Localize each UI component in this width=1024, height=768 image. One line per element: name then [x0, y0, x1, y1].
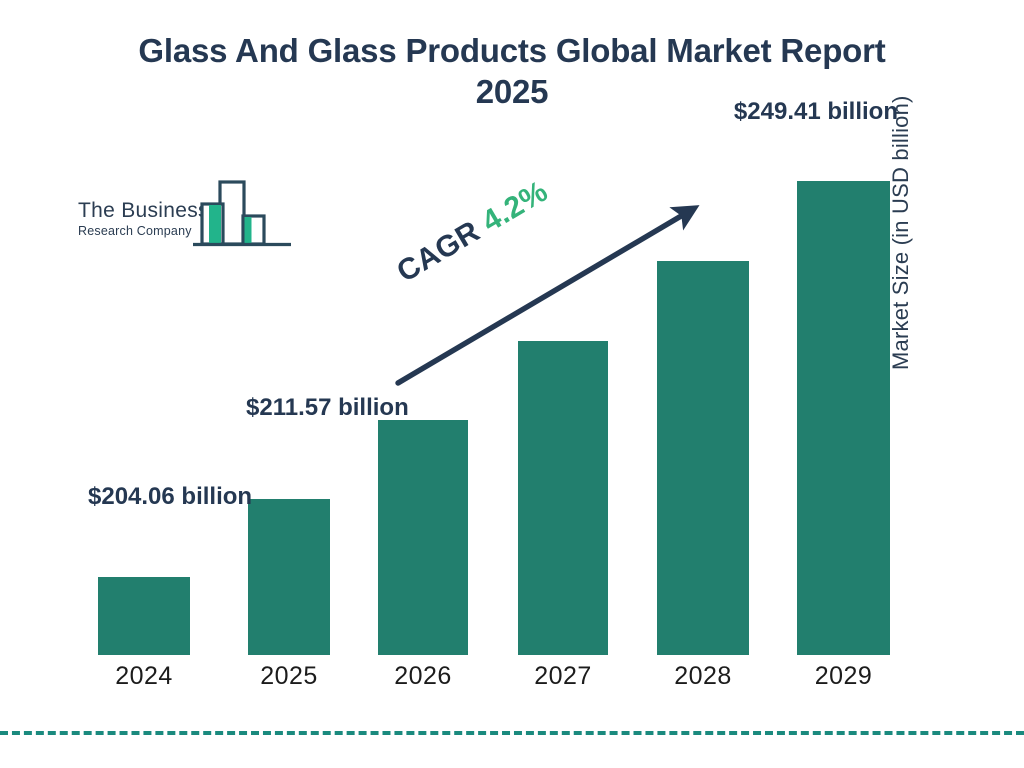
growth-arrow-icon [380, 190, 720, 400]
xtick-2025: 2025 [243, 662, 335, 691]
y-axis-title: Market Size (in USD billion) [888, 70, 914, 370]
bar-2029 [797, 181, 890, 655]
footer-divider [0, 731, 1024, 735]
chart-canvas: Glass And Glass Products Global Market R… [0, 0, 1024, 768]
xtick-2027: 2027 [518, 662, 608, 691]
xtick-2029: 2029 [797, 662, 890, 691]
xtick-2024: 2024 [98, 662, 190, 691]
bar-2024 [98, 577, 190, 655]
bar-2025 [248, 499, 330, 655]
value-label-2024: $204.06 billion [88, 481, 268, 513]
xtick-2028: 2028 [657, 662, 749, 691]
bar-2026 [378, 420, 468, 655]
xtick-2026: 2026 [378, 662, 468, 691]
value-label-2029: $249.41 billion [716, 96, 898, 128]
